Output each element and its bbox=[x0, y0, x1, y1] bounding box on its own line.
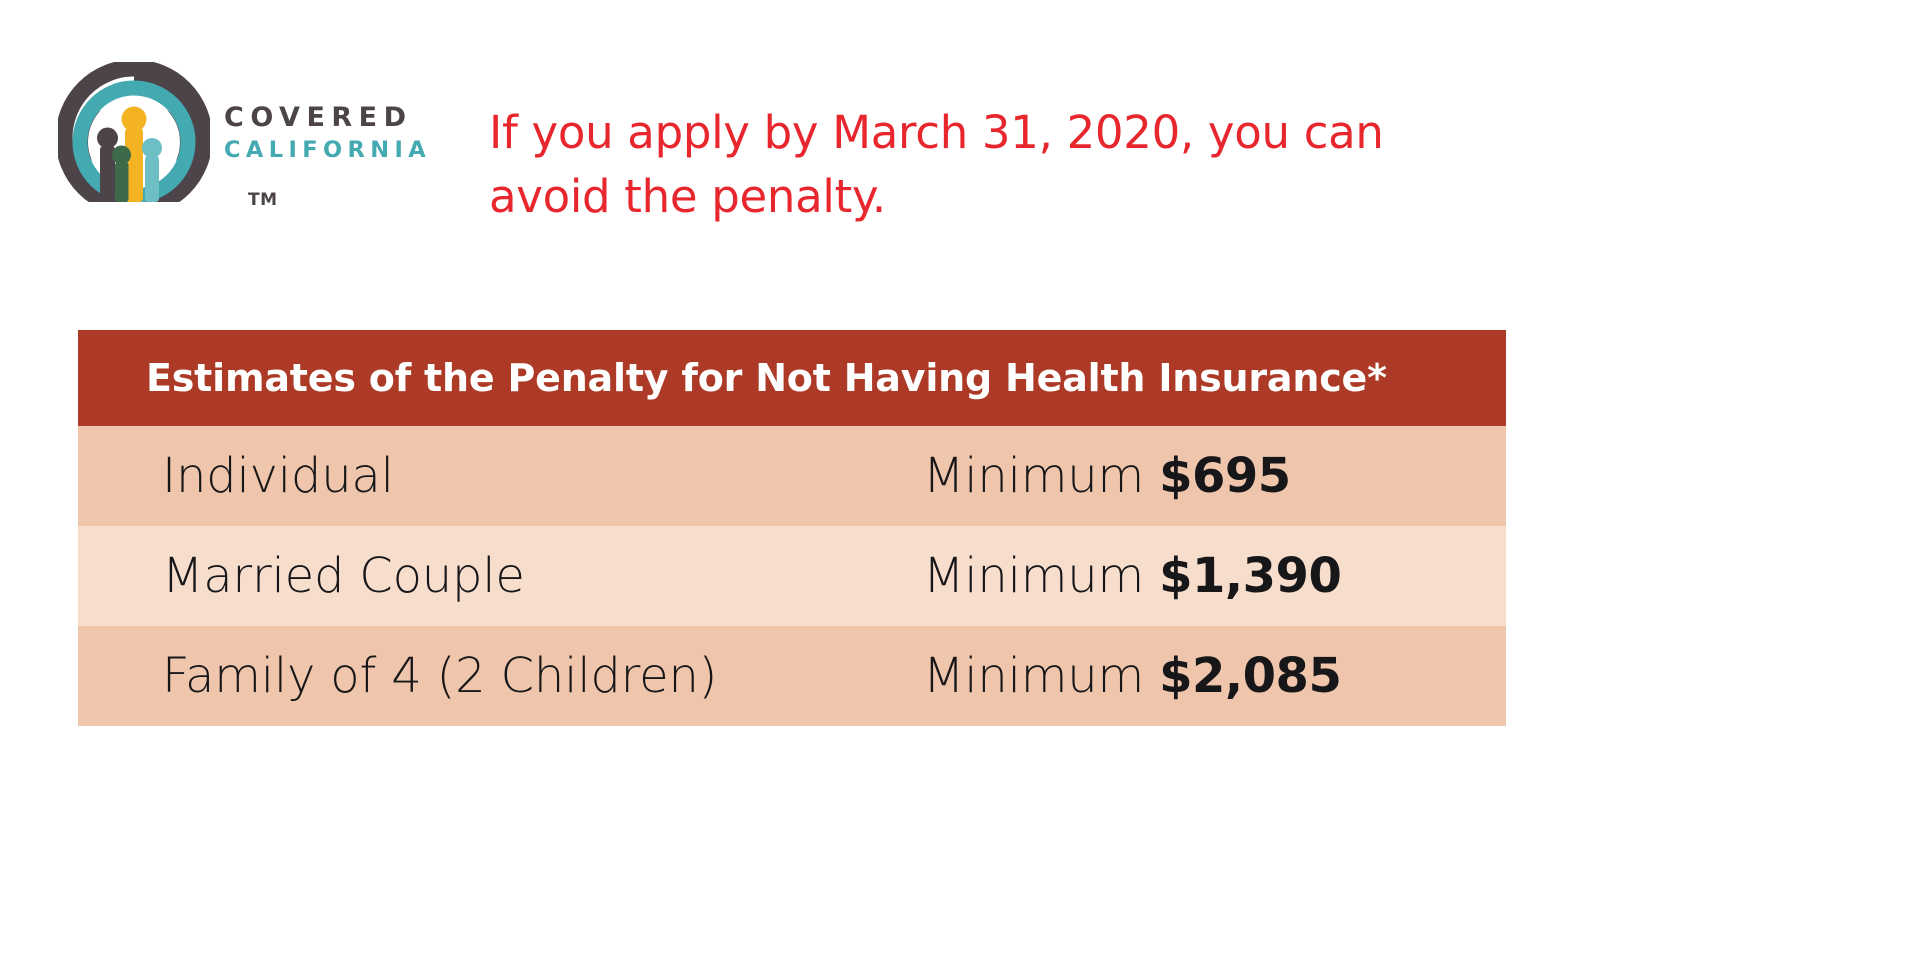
logo-wordmark-covered: COVERED bbox=[224, 103, 439, 133]
penalty-estimates-table: Estimates of the Penalty for Not Having … bbox=[78, 330, 1506, 726]
row-amount-value: $2,085 bbox=[1159, 648, 1341, 704]
header-block: COVERED CALIFORNIA TM If you apply by Ma… bbox=[0, 0, 1920, 300]
row-amount-prefix: Minimum bbox=[923, 648, 1159, 704]
row-amount-prefix: Minimum bbox=[923, 448, 1159, 504]
logo-wordmark-california: CALIFORNIA bbox=[224, 136, 439, 164]
table-row: Married Couple Minimum $1,390 bbox=[78, 526, 1506, 626]
row-category-label: Family of 4 (2 Children) bbox=[162, 648, 717, 704]
logo-wordmark: COVERED CALIFORNIA bbox=[224, 103, 439, 183]
row-amount-value: $1,390 bbox=[1159, 548, 1341, 604]
row-amount-cell: Minimum $1,390 bbox=[923, 548, 1341, 604]
row-amount-cell: Minimum $2,085 bbox=[923, 648, 1341, 704]
row-amount-cell: Minimum $695 bbox=[923, 448, 1291, 504]
trademark-symbol: TM bbox=[248, 190, 278, 210]
row-category-label: Individual bbox=[162, 448, 394, 504]
table-header: Estimates of the Penalty for Not Having … bbox=[78, 330, 1506, 426]
table-header-title: Estimates of the Penalty for Not Having … bbox=[78, 356, 1387, 400]
table-row: Family of 4 (2 Children) Minimum $2,085 bbox=[78, 626, 1506, 726]
row-category-label: Married Couple bbox=[162, 548, 525, 604]
headline-text: If you apply by March 31, 2020, you can … bbox=[489, 101, 1501, 229]
table-row: Individual Minimum $695 bbox=[78, 426, 1506, 526]
covered-california-logo: COVERED CALIFORNIA TM bbox=[58, 62, 438, 227]
covered-california-logo-icon bbox=[58, 62, 210, 214]
row-amount-value: $695 bbox=[1159, 448, 1291, 504]
row-amount-prefix: Minimum bbox=[923, 548, 1159, 604]
